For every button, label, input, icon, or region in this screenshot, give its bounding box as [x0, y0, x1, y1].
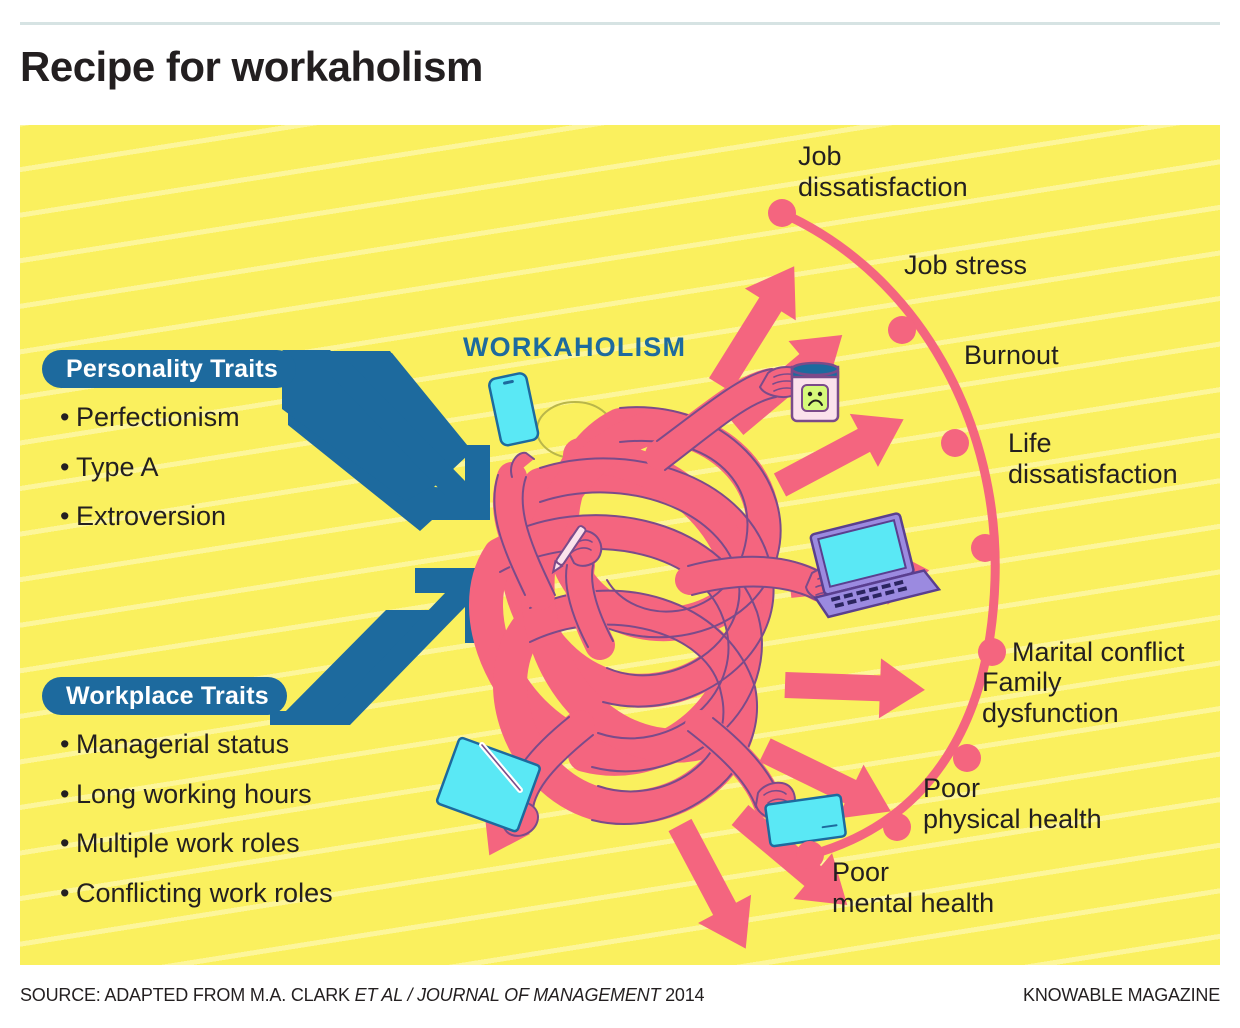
outcome-label-job-dissatisfaction: Job dissatisfaction: [798, 141, 968, 202]
infographic-root: Recipe for workaholism: [0, 0, 1240, 1028]
outcome-label-poor-physical-health: Poor physical health: [923, 773, 1102, 834]
footer-credit: KNOWABLE MAGAZINE: [1023, 985, 1220, 1006]
outcome-label-poor-mental-health: Poor mental health: [832, 857, 994, 918]
footer-source-suffix: 2014: [660, 985, 704, 1005]
outcome-label-job-stress: Job stress: [904, 250, 1027, 281]
header-rule: [20, 22, 1220, 25]
footer-source-prefix: SOURCE: ADAPTED FROM M.A. CLARK: [20, 985, 355, 1005]
outcome-arc: [20, 125, 1220, 965]
outcome-label-marital-conflict: Marital conflict: [1012, 637, 1185, 668]
outcome-label-family-dysfunction: Family dysfunction: [982, 667, 1119, 728]
outcome-label-life-dissatisfaction: Life dissatisfaction: [1008, 428, 1178, 489]
footer-source: SOURCE: ADAPTED FROM M.A. CLARK ET AL / …: [20, 985, 704, 1006]
footer-source-italic: ET AL / JOURNAL OF MANAGEMENT: [355, 985, 661, 1005]
outcome-label-burnout: Burnout: [964, 340, 1059, 371]
illustration-panel: WORKAHOLISM Personality Traits •Perfecti…: [20, 125, 1220, 965]
page-title: Recipe for workaholism: [20, 44, 483, 90]
arc-nodes: [768, 199, 1006, 869]
